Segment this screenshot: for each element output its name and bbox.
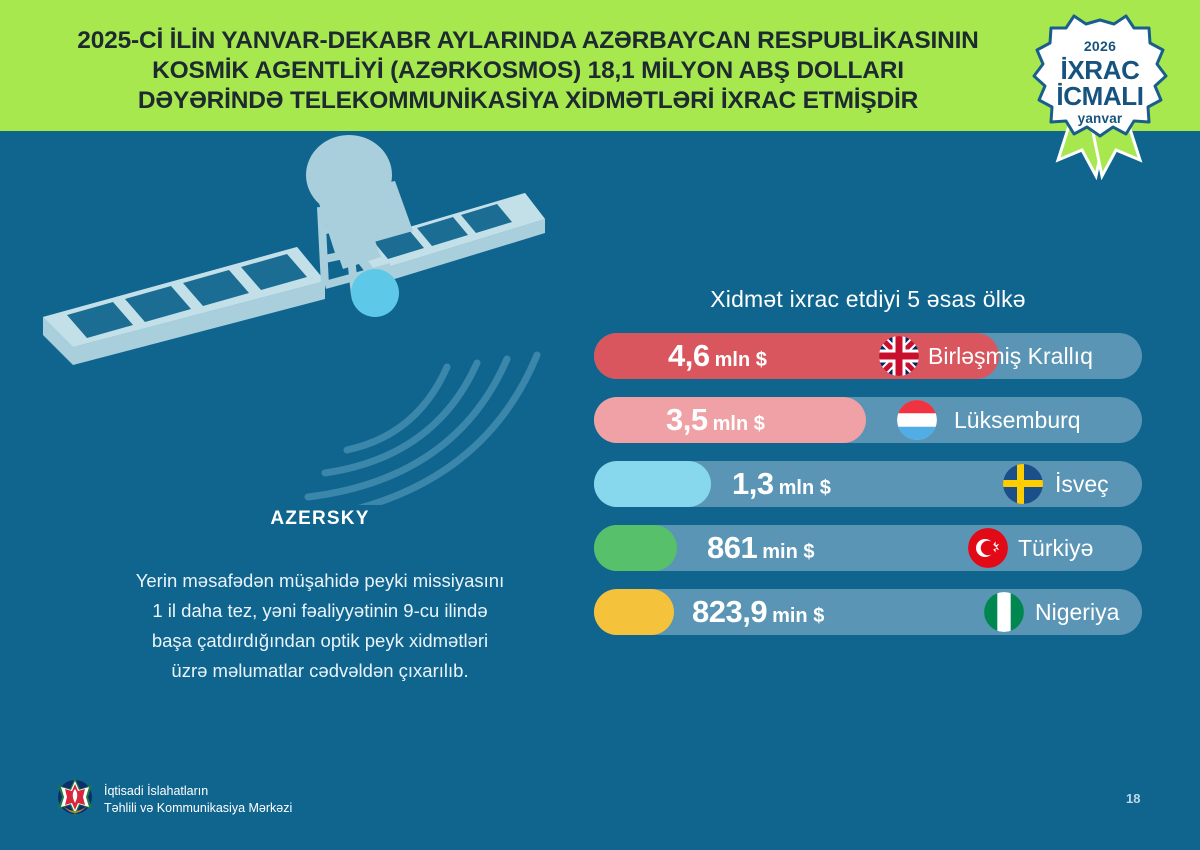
top-countries-chart: Xidmət ixrac etdiyi 5 əsas ölkə 4,6mln $… — [594, 286, 1142, 653]
page-number: 18 — [1126, 791, 1140, 806]
azersky-note: AZERSKY Yerin məsafədən müşahidə peyki m… — [55, 508, 585, 686]
country-label: Lüksemburq — [954, 397, 1081, 443]
azersky-body-line: üzrə məlumatlar cədvəldən çıxarılıb. — [55, 656, 585, 686]
bar-fill — [594, 461, 711, 507]
title-line-1: 2025-Cİ İLİN YANVAR-DEKABR AYLARINDA AZƏ… — [28, 26, 1028, 56]
country-label: İsveç — [1055, 461, 1109, 507]
country-label: Birləşmiş Krallıq — [928, 333, 1093, 379]
header-band: 2025-Cİ İLİN YANVAR-DEKABR AYLARINDA AZƏ… — [0, 0, 1200, 131]
country-label: Türkiyə — [1018, 525, 1093, 571]
bar-value-unit: mln $ — [713, 413, 765, 435]
country-label: Nigeriya — [1035, 589, 1119, 635]
badge-rosette-icon — [1022, 8, 1178, 180]
bar-value: 3,5mln $ — [666, 397, 765, 443]
nigeria-flag-icon — [984, 592, 1024, 632]
bar-value-number: 4,6 — [668, 338, 710, 373]
uk-flag-icon — [879, 336, 919, 376]
title-line-3: DƏYƏRİNDƏ TELEKOMMUNİKASİYA XİDMƏTLƏRİ İ… — [28, 86, 1028, 116]
org-line-2: Təhlili və Kommunikasiya Mərkəzi — [104, 800, 292, 817]
turkey-flag-icon — [968, 528, 1008, 568]
azersky-body: Yerin məsafədən müşahidə peyki missiyası… — [55, 566, 585, 686]
luxembourg-flag-icon — [897, 400, 937, 440]
table-row[interactable]: 4,6mln $ Birləşmiş Krallıq — [594, 333, 1142, 379]
bar-value-unit: mln $ — [779, 477, 831, 499]
infographic-page: 2025-Cİ İLİN YANVAR-DEKABR AYLARINDA AZƏ… — [0, 0, 1200, 850]
org-line-1: İqtisadi İslahatların — [104, 783, 292, 800]
bar-fill — [594, 589, 674, 635]
table-row[interactable]: 861min $ Türkiyə — [594, 525, 1142, 571]
satellite-illustration — [25, 135, 565, 505]
bar-value: 823,9min $ — [692, 589, 824, 635]
title-line-2: KOSMİK AGENTLİYİ (AZƏRKOSMOS) 18,1 MİLYO… — [28, 56, 1028, 86]
bar-fill — [594, 525, 677, 571]
azerbaijan-emblem-icon — [52, 776, 98, 822]
bar-value-number: 823,9 — [692, 594, 767, 629]
table-row[interactable]: 823,9min $ Nigeriya — [594, 589, 1142, 635]
chart-title: Xidmət ixrac etdiyi 5 əsas ölkə — [594, 286, 1142, 313]
bar-value: 861min $ — [707, 525, 814, 571]
azersky-body-line: başa çatdırdığından optik peyk xidmətlər… — [55, 626, 585, 656]
azersky-body-line: Yerin məsafədən müşahidə peyki missiyası… — [55, 566, 585, 596]
bar-value-unit: mln $ — [715, 349, 767, 371]
bar-value-unit: min $ — [762, 541, 814, 563]
bar-value-number: 3,5 — [666, 402, 708, 437]
sweden-flag-icon — [1003, 464, 1043, 504]
azersky-title: AZERSKY — [55, 508, 585, 530]
bar-value: 1,3mln $ — [732, 461, 831, 507]
table-row[interactable]: 1,3mln $ İsveç — [594, 461, 1142, 507]
bar-value-number: 861 — [707, 530, 757, 565]
bar-value-number: 1,3 — [732, 466, 774, 501]
table-row[interactable]: 3,5mln $ Lüksemburq — [594, 397, 1142, 443]
page-title: 2025-Cİ İLİN YANVAR-DEKABR AYLARINDA AZƏ… — [28, 26, 1028, 116]
bar-value: 4,6mln $ — [668, 333, 767, 379]
azersky-body-line: 1 il daha tez, yəni fəaliyyətinin 9-cu i… — [55, 596, 585, 626]
ixrac-icmali-badge: 2026 İXRAC İCMALI yanvar — [1022, 8, 1178, 180]
bar-value-unit: min $ — [772, 605, 824, 627]
footer-organization: İqtisadi İslahatların Təhlili və Kommuni… — [104, 783, 292, 817]
